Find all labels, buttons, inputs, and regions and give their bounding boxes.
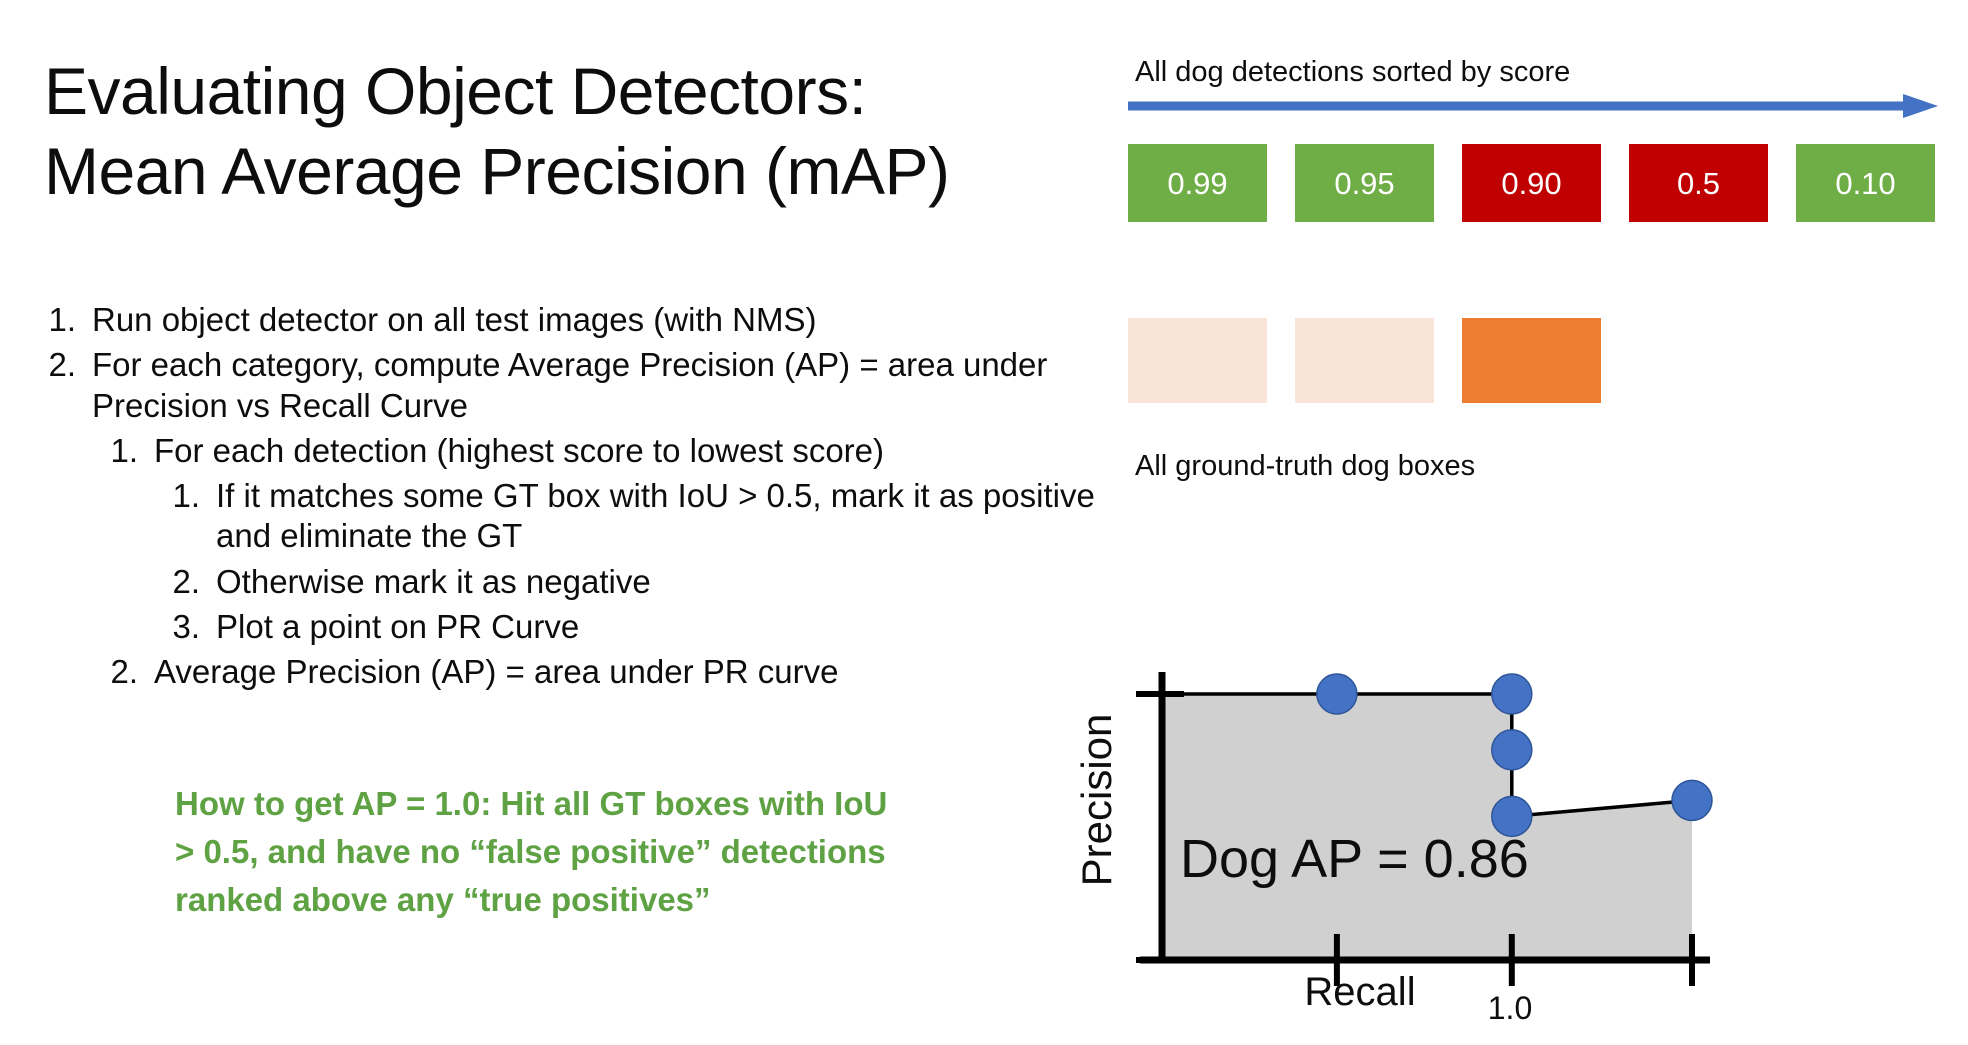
detection-score-label: 0.90 [1501, 168, 1561, 199]
outline-item: 2.Average Precision (AP) = area under PR… [104, 652, 1100, 692]
ground-truth-boxes-row [1128, 318, 1601, 403]
outline-item: 1.If it matches some GT box with IoU > 0… [168, 476, 1100, 557]
detection-score-label: 0.10 [1835, 168, 1895, 199]
outline-item: 1.Run object detector on all test images… [40, 300, 1100, 340]
outline-item-number: 2. [104, 652, 138, 692]
outline-list: 1.Run object detector on all test images… [40, 300, 1100, 697]
outline-item: 1.For each detection (highest score to l… [104, 431, 1100, 471]
pr-data-point [1492, 674, 1532, 714]
outline-item: 2.Otherwise mark it as negative [168, 562, 1100, 602]
ap-area-fill [1162, 694, 1692, 960]
outline-item: 3.Plot a point on PR Curve [168, 607, 1100, 647]
ground-truth-box [1462, 318, 1601, 403]
pr-data-point [1672, 780, 1712, 820]
page-title-line-1: Evaluating Object Detectors: [44, 58, 1114, 124]
detection-boxes-row: 0.990.950.900.50.10 [1128, 144, 1935, 222]
detection-box: 0.90 [1462, 144, 1601, 222]
detection-box: 0.95 [1295, 144, 1434, 222]
detection-box: 0.10 [1796, 144, 1935, 222]
y-axis-label: Precision [1073, 680, 1133, 920]
outline-item-label: If it matches some GT box with IoU > 0.5… [216, 476, 1100, 557]
outline-item-number: 2. [168, 562, 200, 602]
callout-text: How to get AP = 1.0: Hit all GT boxes wi… [175, 780, 915, 924]
outline-item-number: 1. [168, 476, 200, 516]
detection-score-label: 0.5 [1677, 168, 1720, 199]
ground-truth-caption: All ground-truth dog boxes [1135, 450, 1475, 483]
detection-box: 0.5 [1629, 144, 1768, 222]
outline-item-label: Plot a point on PR Curve [216, 607, 1100, 647]
right-arrow-icon [1128, 92, 1938, 120]
page-title: Evaluating Object Detectors: Mean Averag… [44, 58, 1114, 204]
x-axis-max-tick-label: 1.0 [1430, 990, 1590, 1027]
page-title-line-2: Mean Average Precision (mAP) [44, 138, 1114, 204]
ground-truth-box [1128, 318, 1267, 403]
outline-item-label: For each detection (highest score to low… [154, 431, 1100, 471]
detection-score-label: 0.95 [1334, 168, 1394, 199]
detections-caption: All dog detections sorted by score [1135, 56, 1570, 89]
outline-item: 2.For each category, compute Average Pre… [40, 345, 1100, 426]
outline-item-label: For each category, compute Average Preci… [92, 345, 1100, 426]
pr-data-point [1317, 674, 1357, 714]
detection-score-label: 0.99 [1167, 168, 1227, 199]
pr-data-point [1492, 730, 1532, 770]
outline-item-number: 2. [40, 345, 76, 385]
ground-truth-box [1295, 318, 1434, 403]
precision-recall-chart: Precision Recall 1.0 Dog AP = 0.86 [1080, 640, 1860, 1040]
ap-annotation: Dog AP = 0.86 [1180, 828, 1529, 890]
outline-item-label: Otherwise mark it as negative [216, 562, 1100, 602]
outline-item-label: Run object detector on all test images (… [92, 300, 1100, 340]
outline-item-number: 1. [40, 300, 76, 340]
detection-box: 0.99 [1128, 144, 1267, 222]
outline-item-number: 3. [168, 607, 200, 647]
outline-item-label: Average Precision (AP) = area under PR c… [154, 652, 1100, 692]
outline-item-number: 1. [104, 431, 138, 471]
